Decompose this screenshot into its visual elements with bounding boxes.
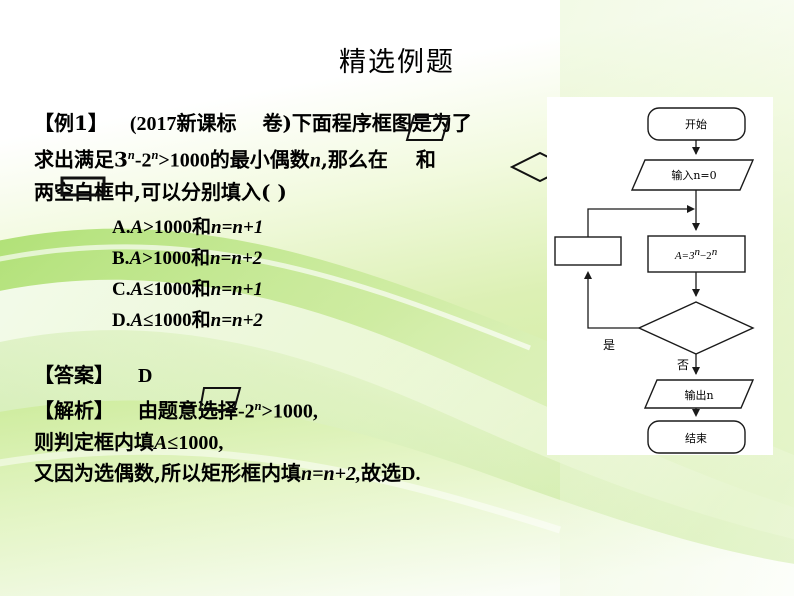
option-a-rel: >1000 [143,217,192,238]
flow-output-label: 输出n [684,388,713,402]
analysis-l3-a: 又因为选偶数,所以矩形框内填 [34,461,301,485]
option-a: A.A>1000和n=n+1 [112,212,472,243]
option-c-key: C. [112,279,130,300]
analysis-line-1: 【解析】 由题意选择-2n>1000, [34,391,554,427]
analysis-l1-exp: n [255,399,262,413]
option-d-conj: 和 [192,309,211,331]
flow-decision-shape [639,302,753,354]
analysis-l2-b: ≤1000, [167,432,223,454]
analysis-l1-a: 由题意选择 [138,399,238,423]
option-b-var2: n [210,248,221,269]
question-l2-d: ,那么在 [321,148,388,172]
option-d-rel: ≤1000 [143,310,191,331]
question-line-2: 求出满足3n-2n>1000的最小偶数n,那么在和 [34,140,554,177]
option-a-assign: =n+1 [222,217,264,238]
question-line-3: 两空白框中,可以分别填入( ) [34,177,554,208]
analysis-l3-d: D. [401,463,420,485]
question-l2-e: 和 [416,148,436,172]
option-b-var1: A [129,248,142,269]
option-b-assign: =n+2 [221,248,263,269]
option-b-conj: 和 [191,247,210,269]
flow-arrow-yes-branch [588,273,639,328]
option-d: D.A≤1000和n=n+2 [112,305,472,336]
flow-arrow-loop-return [588,209,690,237]
flow-branch-no-label: 否 [677,358,689,372]
answer-label: 【答案】 [34,363,114,387]
option-d-assign: =n+2 [221,310,263,331]
analysis-l3-b: =n+2, [312,463,361,485]
question-l2-var: n [310,150,321,172]
answer-options-list: A.A>1000和n=n+1 B.A>1000和n=n+2 C.A≤1000和n… [112,212,472,336]
flow-blank-rect-shape [555,237,621,265]
option-c-var1: A [130,279,143,300]
answer-analysis-block: 【答案】 D 【解析】 由题意选择-2n>1000, 则判定框内填A≤1000,… [34,360,554,489]
option-d-var1: A [130,310,143,331]
question-tag: 【例1】 [34,111,108,135]
flow-start-label: 开始 [685,117,707,131]
option-c-var2: n [211,279,222,300]
option-b-rel: >1000 [142,248,191,269]
analysis-l2-var: A [154,432,167,454]
question-l2-exp1: n [128,148,135,162]
option-c-conj: 和 [192,278,211,300]
option-c-assign: =n+1 [221,279,263,300]
answer-line: 【答案】 D [34,360,554,391]
option-c-rel: ≤1000 [143,279,191,300]
flow-process-mid: −2 [700,250,712,262]
question-l2-c: >1000的最小偶数 [158,150,309,172]
flow-input-label: 输入n=0 [671,168,716,182]
flowchart-panel: 开始 输入n=0 A=3n−2n 是 否 输出n 结束 [547,97,773,455]
option-c: C.A≤1000和n=n+1 [112,274,472,305]
option-d-key: D. [112,310,130,331]
analysis-line-3: 又因为选偶数,所以矩形框内填n=n+2,故选D. [34,458,554,489]
analysis-l1-b: -2 [238,401,255,423]
option-b: B.A>1000和n=n+2 [112,243,472,274]
option-a-var2: n [211,217,222,238]
option-a-conj: 和 [192,216,211,238]
question-l2-a: 求出满足3 [34,148,128,172]
option-a-key: A. [112,217,130,238]
slide-title: 精选例题 [0,40,794,79]
flow-process-a: A=3 [674,250,695,262]
analysis-l3-var: n [301,463,312,485]
flow-process-exp2: n [712,246,718,258]
question-source-b: 卷)下面程序框图是为了 [262,111,471,135]
slide-canvas: 精选例题 【例1】 (2017新课标 卷)下面程序框图是为了 求出满足3n-2n… [0,0,794,596]
answer-value: D [138,365,152,387]
analysis-l1-c: >1000, [262,401,318,423]
question-line-1: 【例1】 (2017新课标 卷)下面程序框图是为了 [34,108,554,140]
analysis-line-2: 则判定框内填A≤1000, [34,427,554,458]
option-d-var2: n [211,310,222,331]
flow-branch-yes-label: 是 [603,338,615,352]
question-source-a: (2017新课标 [130,113,237,135]
analysis-l2-a: 则判定框内填 [34,430,154,454]
option-b-key: B. [112,248,129,269]
option-a-var1: A [130,217,143,238]
analysis-l3-c: 故选 [361,461,401,485]
question-l2-b: -2 [135,150,152,172]
question-text-block: 【例1】 (2017新课标 卷)下面程序框图是为了 求出满足3n-2n>1000… [34,108,554,208]
flow-end-label: 结束 [685,432,707,445]
question-l3: 两空白框中,可以分别填入( ) [34,180,287,204]
analysis-label: 【解析】 [34,399,114,423]
